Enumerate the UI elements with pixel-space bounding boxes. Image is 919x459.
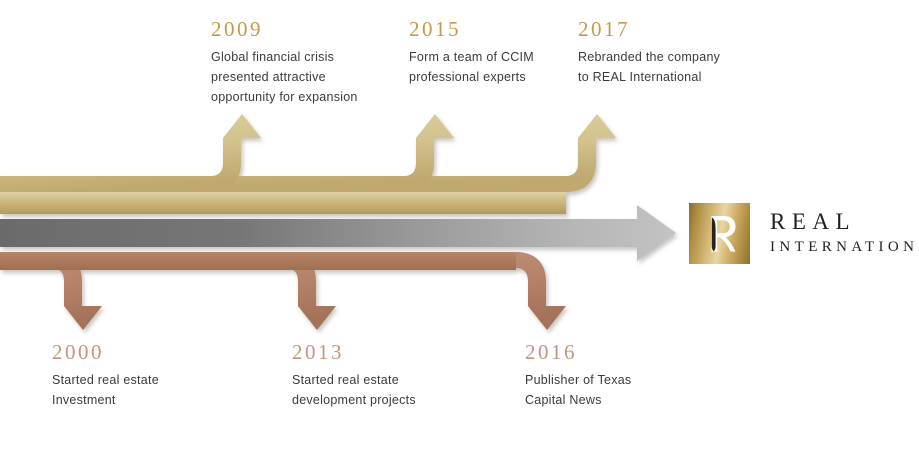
milestone-desc-line: Global financial crisis bbox=[211, 47, 411, 67]
milestone-description: Global financial crisis presented attrac… bbox=[211, 47, 411, 107]
company-logo: REAL INTERNATIONAL bbox=[689, 203, 919, 264]
milestone-year: 2017 bbox=[578, 16, 778, 42]
milestone-desc-line: Rebranded the company bbox=[578, 47, 778, 67]
gold-riser-2009 bbox=[0, 114, 261, 192]
milestone-desc-line: Started real estate bbox=[52, 370, 252, 390]
milestone-description: Started real estate Investment bbox=[52, 370, 252, 410]
milestone-desc-line: Capital News bbox=[525, 390, 725, 410]
milestone-year: 2013 bbox=[292, 339, 492, 365]
milestone-2000: 2000 Started real estate Investment bbox=[52, 339, 252, 410]
milestone-desc-line: Investment bbox=[52, 390, 252, 410]
milestone-desc-line: development projects bbox=[292, 390, 492, 410]
milestone-year: 2009 bbox=[211, 16, 411, 42]
milestone-desc-line: to REAL International bbox=[578, 67, 778, 87]
milestone-year: 2016 bbox=[525, 339, 725, 365]
milestone-desc-line: opportunity for expansion bbox=[211, 87, 411, 107]
milestone-2009: 2009 Global financial crisis presented a… bbox=[211, 16, 411, 107]
logo-name-secondary: INTERNATIONAL bbox=[770, 236, 919, 258]
copper-band-overlay bbox=[0, 252, 510, 270]
milestone-description: Started real estate development projects bbox=[292, 370, 492, 410]
timeline-infographic: 2009 Global financial crisis presented a… bbox=[0, 0, 919, 459]
logo-r-icon bbox=[689, 203, 750, 264]
milestone-year: 2000 bbox=[52, 339, 252, 365]
milestone-desc-line: presented attractive bbox=[211, 67, 411, 87]
milestone-2017: 2017 Rebranded the company to REAL Inter… bbox=[578, 16, 778, 87]
milestone-description: Publisher of Texas Capital News bbox=[525, 370, 725, 410]
logo-wordmark: REAL INTERNATIONAL bbox=[770, 209, 919, 258]
gold-band-overlay bbox=[0, 192, 560, 214]
milestone-2016: 2016 Publisher of Texas Capital News bbox=[525, 339, 725, 410]
milestone-desc-line: Started real estate bbox=[292, 370, 492, 390]
milestone-2013: 2013 Started real estate development pro… bbox=[292, 339, 492, 410]
milestone-description: Rebranded the company to REAL Internatio… bbox=[578, 47, 778, 87]
milestone-desc-line: Publisher of Texas bbox=[525, 370, 725, 390]
logo-name-primary: REAL bbox=[770, 209, 919, 235]
logo-monogram-mark bbox=[689, 203, 750, 264]
